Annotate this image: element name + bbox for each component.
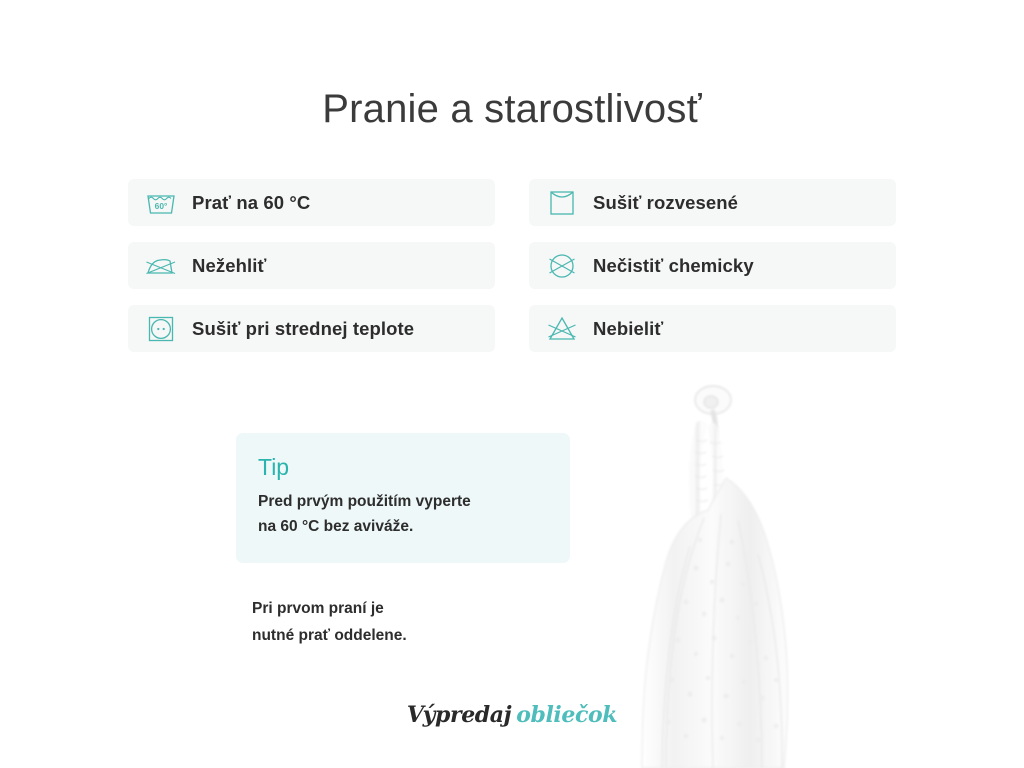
brand-logo: Výpredajobliečok — [0, 702, 1024, 728]
page-title: Pranie a starostlivosť — [0, 82, 1024, 136]
line-dry-icon — [545, 186, 579, 220]
care-instructions-grid: 60° Prať na 60 °C Sušiť rozvesené — [128, 179, 896, 352]
do-not-iron-icon — [144, 249, 178, 283]
tip-body: Pred prvým použitím vyperte na 60 °C bez… — [258, 489, 548, 539]
care-label: Sušiť pri strednej teplote — [192, 318, 414, 340]
tumble-dry-medium-icon — [144, 312, 178, 346]
tip-body-line-2: na 60 °C bez aviváže. — [258, 514, 548, 539]
care-label: Prať na 60 °C — [192, 192, 310, 214]
care-label: Nebieliť — [593, 318, 663, 340]
care-row: 60° Prať na 60 °C — [128, 179, 495, 226]
care-label: Nežehliť — [192, 255, 266, 277]
logo-primary-text: Výpredaj — [407, 702, 511, 728]
do-not-dry-clean-icon — [545, 249, 579, 283]
do-not-bleach-icon — [545, 312, 579, 346]
note-line-1: Pri prvom praní je — [252, 595, 407, 622]
care-label: Nečistiť chemicky — [593, 255, 754, 277]
tip-box: Tip Pred prvým použitím vyperte na 60 °C… — [236, 433, 570, 563]
note-text: Pri prvom praní je nutné prať oddelene. — [252, 595, 407, 649]
logo-secondary-text: obliečok — [516, 702, 617, 728]
care-row: Nebieliť — [529, 305, 896, 352]
care-row: Nečistiť chemicky — [529, 242, 896, 289]
wash-60-icon: 60° — [144, 186, 178, 220]
care-row: Sušiť pri strednej teplote — [128, 305, 495, 352]
care-row: Sušiť rozvesené — [529, 179, 896, 226]
care-row: Nežehliť — [128, 242, 495, 289]
care-instructions-page: Pranie a starostlivosť 60° Prať na 60 °C — [0, 0, 1024, 768]
note-line-2: nutné prať oddelene. — [252, 622, 407, 649]
tip-body-line-1: Pred prvým použitím vyperte — [258, 489, 548, 514]
tip-heading: Tip — [258, 453, 548, 481]
care-label: Sušiť rozvesené — [593, 192, 738, 214]
svg-text:60°: 60° — [155, 201, 168, 211]
